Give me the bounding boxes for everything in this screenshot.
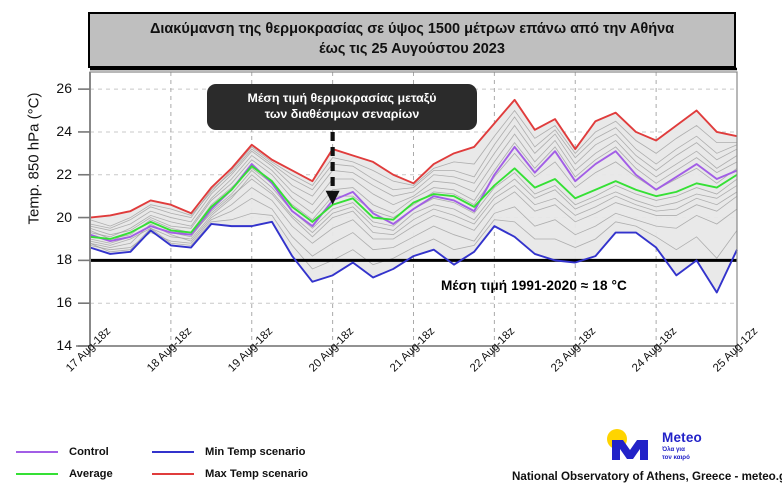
plot-area <box>0 0 782 498</box>
y-tick-label: 16 <box>42 294 72 310</box>
legend-item-average: Average <box>16 468 113 480</box>
legend-label-average: Average <box>69 468 113 480</box>
legend-label-max-temp: Max Temp scenario <box>205 468 308 480</box>
chart-figure: Διακύμανση της θερμοκρασίας σε ύψος 1500… <box>0 0 782 498</box>
average-callout-line2: των διαθέσιμων σεναρίων <box>215 106 469 122</box>
y-tick-label: 20 <box>42 209 72 225</box>
average-callout-line1: Μέση τιμή θερμοκρασίας μεταξύ <box>215 90 469 106</box>
meteo-logo: Meteo Όλα για τον καιρό <box>600 428 712 466</box>
legend-item-min-temp: Min Temp scenario <box>152 446 306 458</box>
legend-swatch-control <box>16 451 58 453</box>
meteo-logo-wordmark: Meteo <box>662 430 702 445</box>
meteo-logo-tagline-line1: Όλα για <box>662 446 685 453</box>
meteo-logo-tagline-line2: τον καιρό <box>662 454 690 461</box>
legend-swatch-average <box>16 473 58 475</box>
footer-credit: National Observatory of Athens, Greece -… <box>512 470 782 483</box>
legend-item-control: Control <box>16 446 109 458</box>
chart-legend: Control Average Min Temp scenario Max Te… <box>16 444 316 490</box>
letter-m-icon <box>612 440 648 460</box>
y-tick-label: 22 <box>42 166 72 182</box>
legend-label-min-temp: Min Temp scenario <box>205 446 306 458</box>
legend-item-max-temp: Max Temp scenario <box>152 468 308 480</box>
baseline-annotation: Μέση τιμή 1991-2020 ≈ 18 °C <box>441 278 627 293</box>
average-callout: Μέση τιμή θερμοκρασίας μεταξύ των διαθέσ… <box>207 84 477 130</box>
meteo-logo-mark <box>600 428 660 464</box>
meteo-logo-tagline: Όλα για τον καιρό <box>662 446 712 462</box>
y-tick-label: 24 <box>42 123 72 139</box>
y-tick-label: 14 <box>42 337 72 353</box>
legend-swatch-min-temp <box>152 451 194 453</box>
y-tick-label: 26 <box>42 80 72 96</box>
legend-swatch-max-temp <box>152 473 194 475</box>
legend-label-control: Control <box>69 446 109 458</box>
y-tick-label: 18 <box>42 251 72 267</box>
